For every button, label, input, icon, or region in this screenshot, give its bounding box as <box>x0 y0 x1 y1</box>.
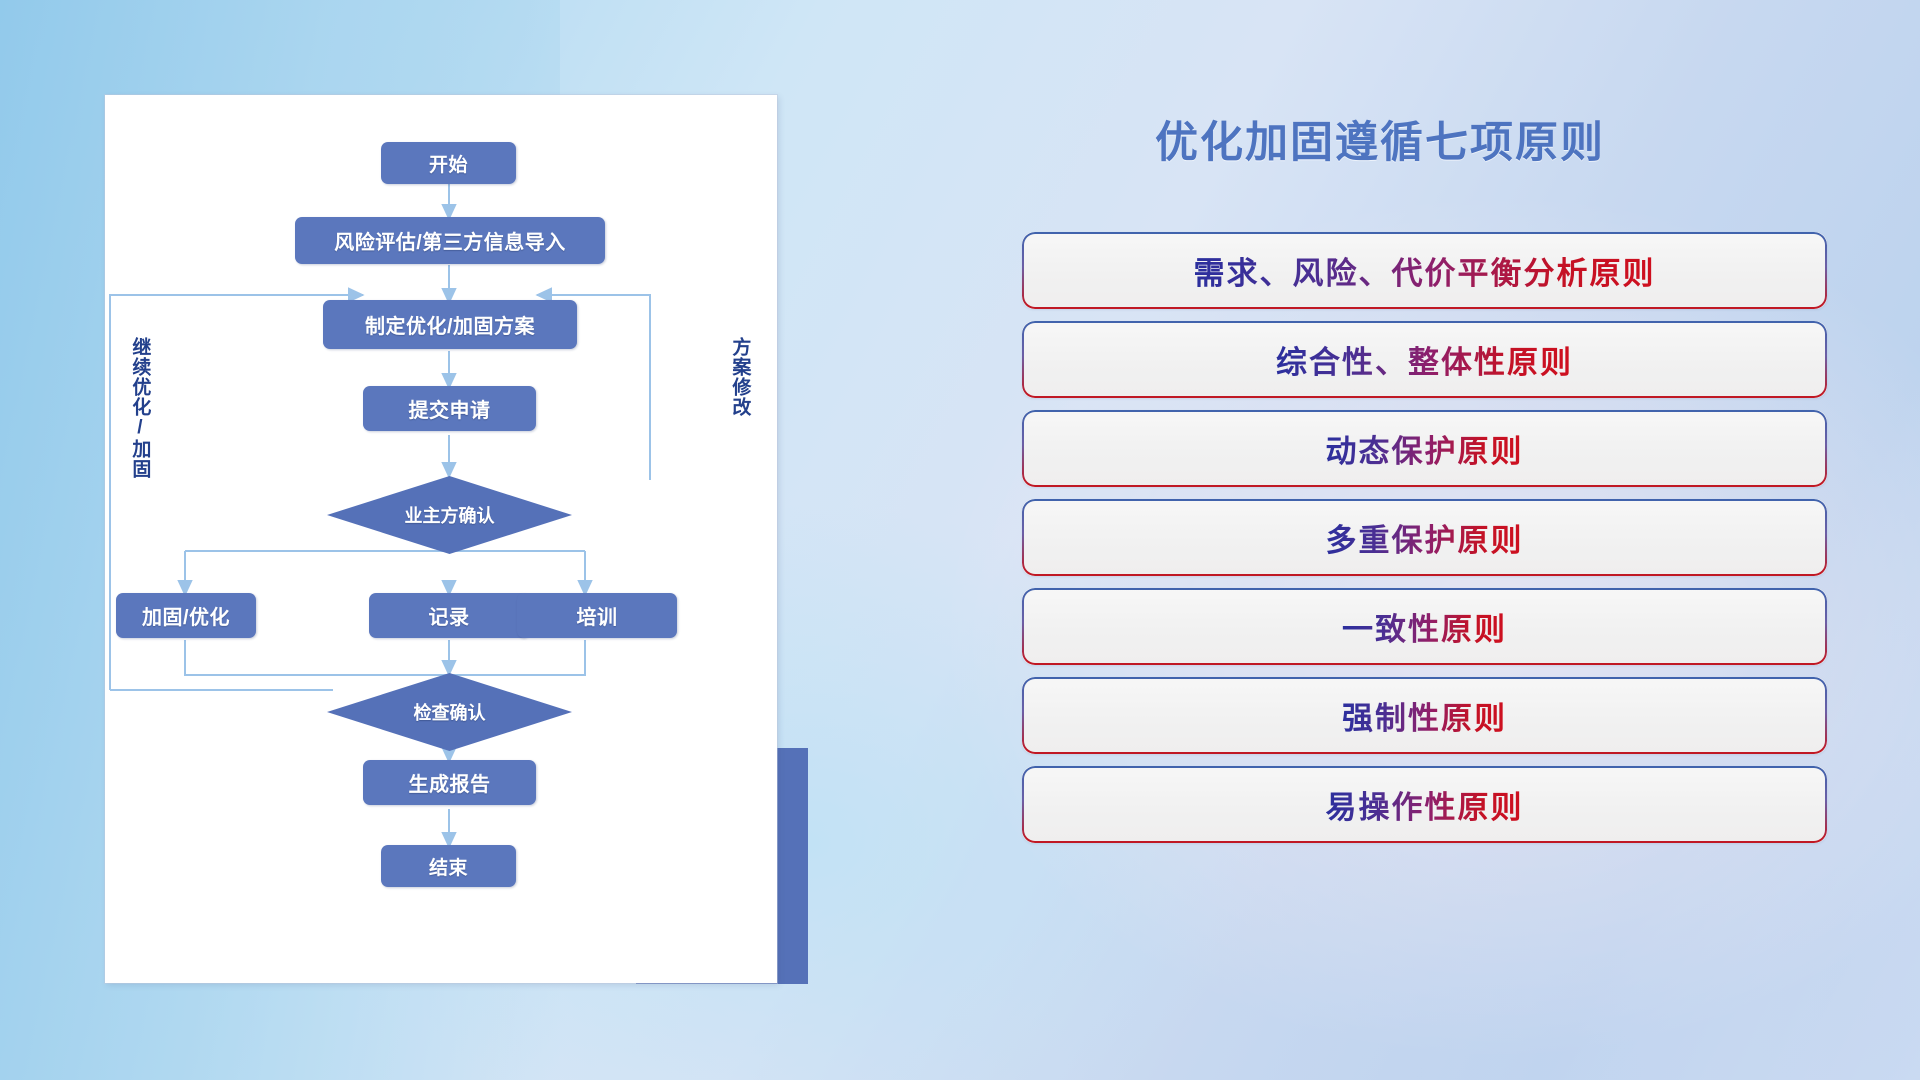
flow-node-risk-assessment-label: 风险评估/第三方信息导入 <box>334 226 566 255</box>
flow-node-generate-report[interactable]: 生成报告 <box>363 760 536 805</box>
principle-card-5[interactable]: 一致性原则 <box>1022 588 1827 665</box>
flow-decision-owner-confirm[interactable]: 业主方确认 <box>327 476 572 554</box>
principle-card-1[interactable]: 需求、风险、代价平衡分析原则 <box>1022 232 1827 309</box>
principle-card-4[interactable]: 多重保护原则 <box>1022 499 1827 576</box>
principle-card-6[interactable]: 强制性原则 <box>1022 677 1827 754</box>
principle-card-3-label: 动态保护原则 <box>1326 426 1524 471</box>
principle-card-2[interactable]: 综合性、整体性原则 <box>1022 321 1827 398</box>
flow-node-record-label: 记录 <box>429 601 470 630</box>
flow-node-reinforce[interactable]: 加固/优化 <box>116 593 256 638</box>
flow-node-training[interactable]: 培训 <box>517 593 677 638</box>
flow-node-risk-assessment[interactable]: 风险评估/第三方信息导入 <box>295 217 605 264</box>
flow-node-end-label: 结束 <box>429 853 468 880</box>
flow-decision-owner-confirm-label: 业主方确认 <box>405 502 495 528</box>
flow-node-plan[interactable]: 制定优化/加固方案 <box>323 300 577 349</box>
principle-card-7[interactable]: 易操作性原则 <box>1022 766 1827 843</box>
slide-background: 开始 风险评估/第三方信息导入 制定优化/加固方案 提交申请 业主方确认 加固/… <box>0 0 1920 1080</box>
flow-node-end[interactable]: 结束 <box>381 845 516 887</box>
flow-decision-inspection-label: 检查确认 <box>414 699 486 725</box>
panel-title: 优化加固遵循七项原则 <box>1155 108 1855 170</box>
principle-card-5-label: 一致性原则 <box>1342 604 1507 649</box>
flow-node-start-label: 开始 <box>429 150 468 177</box>
flow-decision-inspection[interactable]: 检查确认 <box>327 673 572 751</box>
principles-list: 需求、风险、代价平衡分析原则 综合性、整体性原则 动态保护原则 多重保护原则 一… <box>1022 232 1827 855</box>
flow-node-plan-label: 制定优化/加固方案 <box>365 310 535 339</box>
flow-node-submit-application[interactable]: 提交申请 <box>363 386 536 431</box>
flowchart-card: 开始 风险评估/第三方信息导入 制定优化/加固方案 提交申请 业主方确认 加固/… <box>105 95 777 983</box>
principle-card-2-label: 综合性、整体性原则 <box>1276 337 1573 382</box>
flow-node-start[interactable]: 开始 <box>381 142 516 184</box>
flow-edge-label-continue-optimize: 继续优化/加固 <box>130 337 149 479</box>
flow-node-record[interactable]: 记录 <box>369 593 529 638</box>
flow-node-generate-report-label: 生成报告 <box>409 768 491 797</box>
principle-card-3[interactable]: 动态保护原则 <box>1022 410 1827 487</box>
principle-card-4-label: 多重保护原则 <box>1326 515 1524 560</box>
flow-node-training-label: 培训 <box>577 601 618 630</box>
principle-card-1-label: 需求、风险、代价平衡分析原则 <box>1194 248 1656 293</box>
principle-card-7-label: 易操作性原则 <box>1326 782 1524 827</box>
flowchart: 开始 风险评估/第三方信息导入 制定优化/加固方案 提交申请 业主方确认 加固/… <box>105 95 777 983</box>
flow-node-reinforce-label: 加固/优化 <box>142 601 230 630</box>
principle-card-6-label: 强制性原则 <box>1342 693 1507 738</box>
flow-node-submit-application-label: 提交申请 <box>409 394 491 423</box>
flow-edge-label-plan-revision: 方案修改 <box>730 337 749 417</box>
